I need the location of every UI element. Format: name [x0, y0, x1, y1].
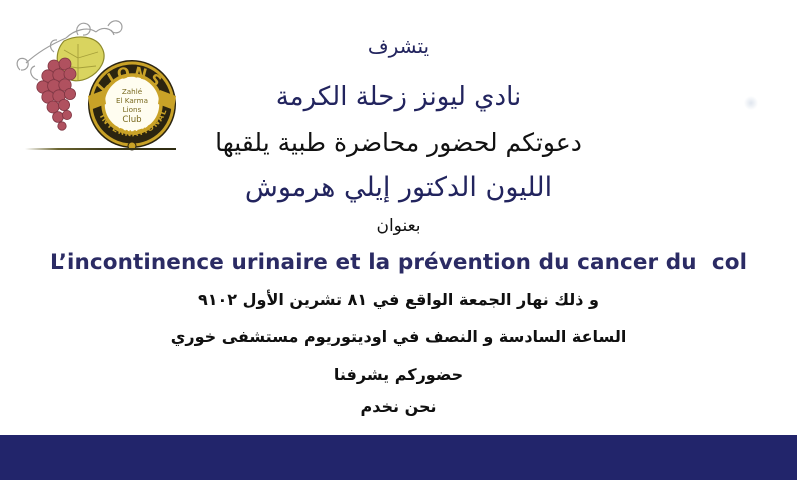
club-motto-line: نحن نخدم — [0, 397, 797, 416]
speaker-name-line: الليون الدكتور إيلي هرموش — [0, 172, 797, 203]
bottom-color-bar — [0, 435, 797, 480]
invitation-page: LIONS INTERNATIONAL Zahlé El Karma Lions… — [0, 0, 797, 480]
invitation-line: دعوتكم لحضور محاضرة طبية يلقيها — [0, 128, 797, 157]
titled-label: بعنوان — [0, 216, 797, 236]
closing-honor-line: حضوركم يشرفنا — [0, 365, 797, 384]
honor-intro-line: يتشرف — [0, 34, 797, 58]
svg-text:Club: Club — [122, 115, 141, 125]
event-time-place-line: الساعة السادسة و النصف في اوديتوريوم مست… — [0, 327, 797, 346]
lecture-title-french: L’incontinence urinaire et la prévention… — [0, 250, 797, 275]
club-name-line: نادي ليونز زحلة الكرمة — [0, 82, 797, 112]
event-date-line: و ذلك نهار الجمعة الواقع في ١٨ تشرين الأ… — [0, 290, 797, 309]
